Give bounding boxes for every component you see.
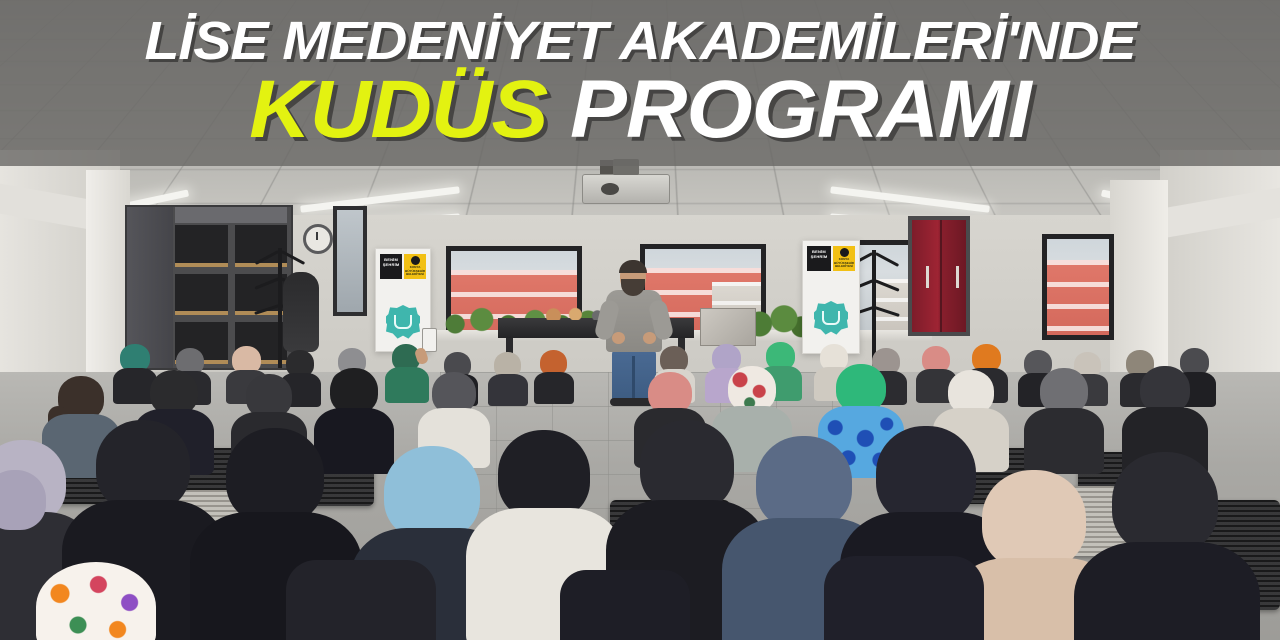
headline-line-1: LİSE MEDENİYET AKADEMİLERİ'NDE — [0, 6, 1280, 67]
headscarf — [1112, 452, 1218, 554]
attendee-coat — [1074, 542, 1260, 640]
attendee-coat — [488, 374, 528, 406]
headscarf — [226, 428, 324, 524]
headscarf — [1140, 366, 1190, 413]
headscarf — [982, 470, 1086, 570]
headscarf — [384, 446, 480, 540]
headscarf — [836, 364, 886, 412]
attendee-coat — [824, 556, 984, 640]
headscarf — [96, 420, 190, 512]
news-photo-banner: BENİM ŞEHRİM KONYA BÜYÜKŞEHİR BELEDİYESİ… — [0, 0, 1280, 640]
attendee-coat — [560, 570, 690, 640]
headline-line-2: KUDÜS PROGRAMI — [0, 71, 1280, 148]
headline-highlight: KUDÜS — [249, 64, 547, 155]
headscarf — [640, 420, 734, 512]
headscarf — [876, 426, 976, 524]
headscarf — [756, 436, 852, 530]
attendee-coat — [1024, 408, 1104, 474]
attendee-coat — [385, 367, 429, 403]
headline: LİSE MEDENİYET AKADEMİLERİ'NDE KUDÜS PRO… — [0, 6, 1280, 148]
attendee-coat — [534, 372, 574, 404]
attendee-coat — [314, 408, 394, 474]
attendee-coat — [286, 560, 436, 640]
headline-rest: PROGRAMI — [547, 64, 1030, 155]
headscarf — [498, 430, 590, 520]
